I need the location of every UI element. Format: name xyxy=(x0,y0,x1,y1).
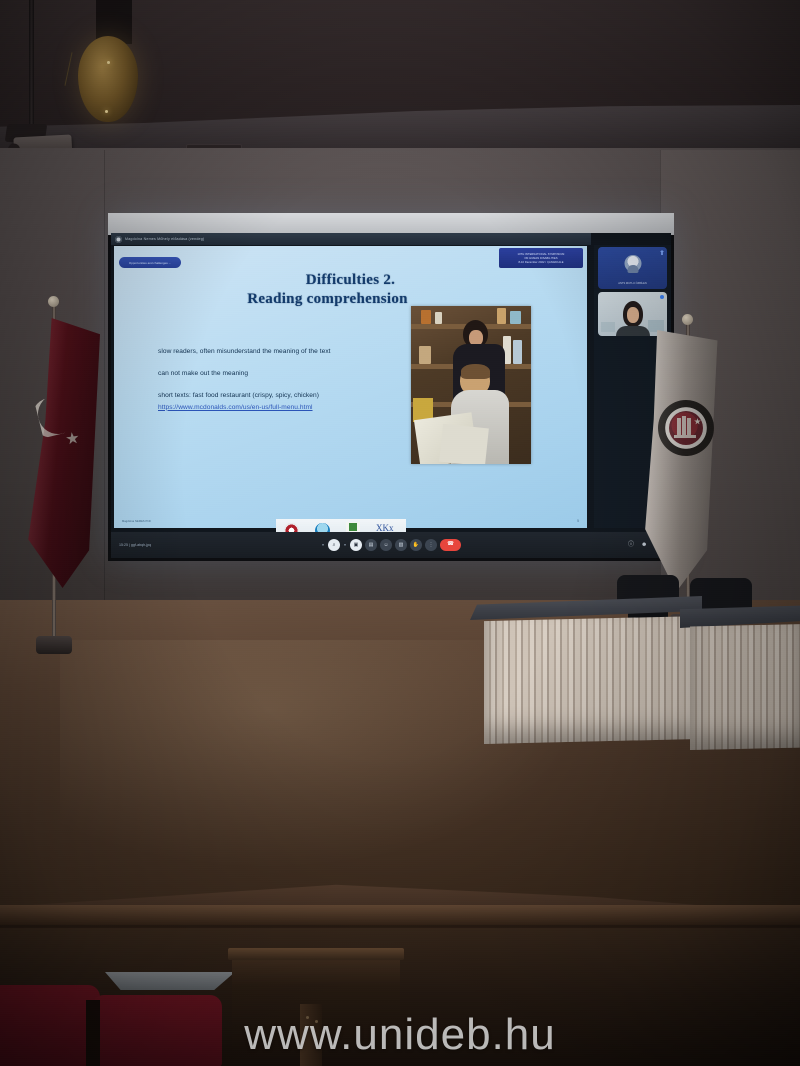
slide-title: Difficulties 2. Reading comprehension xyxy=(114,272,587,308)
slide-hyperlink[interactable]: https://www.mcdonalds.com/us/en-us/full-… xyxy=(158,404,408,412)
panel-table-skirt xyxy=(484,616,702,744)
meet-control-buttons: ▾ ⌕ ▾ ▣ ▤ ☺ ▧ ✋ xyxy=(321,539,461,551)
microphone-button[interactable]: ⌕ xyxy=(328,539,340,551)
hangup-icon: ☎ xyxy=(447,542,454,548)
photo-shelf-item xyxy=(421,310,431,324)
leave-call-button[interactable]: ☎ xyxy=(440,539,461,551)
avatar xyxy=(624,255,641,272)
captions-button[interactable]: ▤ xyxy=(365,539,377,551)
photo-shelf-item xyxy=(510,311,521,324)
slide-section-tab: Opportunities and challenges ... xyxy=(119,257,181,268)
reactions-button[interactable]: ☺ xyxy=(380,539,392,551)
people-panel-icon[interactable]: ☻ xyxy=(641,542,647,548)
banner-line-1: 10TH INTERNATIONAL SYMPOSIUM xyxy=(518,253,565,256)
meeting-details-icon[interactable]: ⓘ xyxy=(628,542,634,548)
projected-google-meet-window[interactable]: Magdolna Nemes Műhely előadása (vendeg) … xyxy=(111,233,671,558)
photo-shelf-item xyxy=(435,312,442,324)
symposium-banner: 10TH INTERNATIONAL SYMPOSIUM ON HUMAN DI… xyxy=(499,248,583,268)
slide-page-number: 5 xyxy=(577,519,579,523)
meet-title-bar: Magdolna Nemes Műhely előadása (vendeg) xyxy=(111,233,591,245)
microphone-icon: ⌕ xyxy=(333,543,336,548)
wooden-railing-cap xyxy=(228,948,404,960)
raise-hand-button[interactable]: ✋ xyxy=(410,539,422,551)
photo-worksheet xyxy=(439,424,489,464)
meeting-time-and-code: 15:25 | ggf-abqh-jpq xyxy=(119,543,151,547)
present-screen-icon: ▧ xyxy=(399,543,404,548)
chevron-up-icon[interactable]: ▾ xyxy=(321,541,325,550)
tile-background-object xyxy=(601,322,615,332)
presentation-slide: Opportunities and challenges ... 10TH IN… xyxy=(114,246,587,528)
photo-shelf-item xyxy=(497,308,506,324)
flagpole-finial xyxy=(48,296,59,307)
emoji-reactions-icon: ☺ xyxy=(383,543,388,548)
slide-bullet: can not make out the meaning xyxy=(158,370,408,378)
active-speaker-indicator-icon xyxy=(660,295,664,299)
watermark: www.unideb.hu xyxy=(0,1010,800,1060)
meet-title-text: Magdolna Nemes Műhely előadása (vendeg) xyxy=(125,237,204,241)
present-button[interactable]: ▧ xyxy=(395,539,407,551)
meet-logo-icon xyxy=(115,236,122,243)
panel-table-skirt xyxy=(690,624,800,750)
slide-section-tab-label: Opportunities and challenges ... xyxy=(129,261,171,265)
chevron-up-icon[interactable]: ▾ xyxy=(343,541,347,550)
photo-shelf-item xyxy=(419,346,431,364)
camera-button[interactable]: ▣ xyxy=(350,539,362,551)
slide-bullet: slow readers, often misunderstand the me… xyxy=(158,348,408,356)
slide-bullet: short texts: fast food restaurant (crisp… xyxy=(158,392,408,400)
lamp-highlight xyxy=(105,110,108,113)
slide-title-line-1: Difficulties 2. xyxy=(114,272,587,289)
lamp-highlight xyxy=(107,61,110,64)
ornate-hanging-lamp xyxy=(78,36,138,122)
participant-name: ANTS MUTLU ÖZBİLEN xyxy=(598,282,667,285)
participant-tile-video[interactable] xyxy=(598,292,667,336)
flagpole-finial xyxy=(682,314,693,325)
pin-icon xyxy=(660,250,664,255)
slide-body-text: slow readers, often misunderstand the me… xyxy=(158,348,408,412)
camera-icon: ▣ xyxy=(354,543,359,548)
banner-line-3: 8-10 December 2022 / ÇANAKKALE xyxy=(518,261,563,264)
captions-icon: ▤ xyxy=(369,543,374,548)
tile-background-object xyxy=(648,320,664,332)
projection-screen-top-bar xyxy=(108,213,674,235)
photo-shelf-item xyxy=(513,340,522,364)
more-options-button[interactable]: ⋮ xyxy=(425,539,437,551)
meet-control-bar: 15:25 | ggf-abqh-jpq ▾ ⌕ ▾ ▣ ▤ ☺ ▧ xyxy=(111,532,671,558)
projector-mount-pole xyxy=(29,0,34,140)
wall-seam xyxy=(104,150,105,620)
slide-footer-text: Magdolna NEMES PhD xyxy=(122,520,151,523)
raise-hand-icon: ✋ xyxy=(413,543,419,548)
more-options-icon: ⋮ xyxy=(429,543,434,548)
conference-hall-photo: Magdolna Nemes Műhely előadása (vendeg) … xyxy=(0,0,800,1066)
participant-shoulders xyxy=(616,326,650,336)
participant-face xyxy=(627,307,639,323)
banner-line-2: ON HUMAN DISABILITIES xyxy=(524,257,557,260)
photo-student-hair xyxy=(461,364,490,379)
slide-photo xyxy=(411,306,531,464)
participant-tile-avatar[interactable]: ANTS MUTLU ÖZBİLEN xyxy=(598,247,667,289)
front-desk-surface xyxy=(105,972,235,990)
flag-base-left xyxy=(36,636,72,654)
